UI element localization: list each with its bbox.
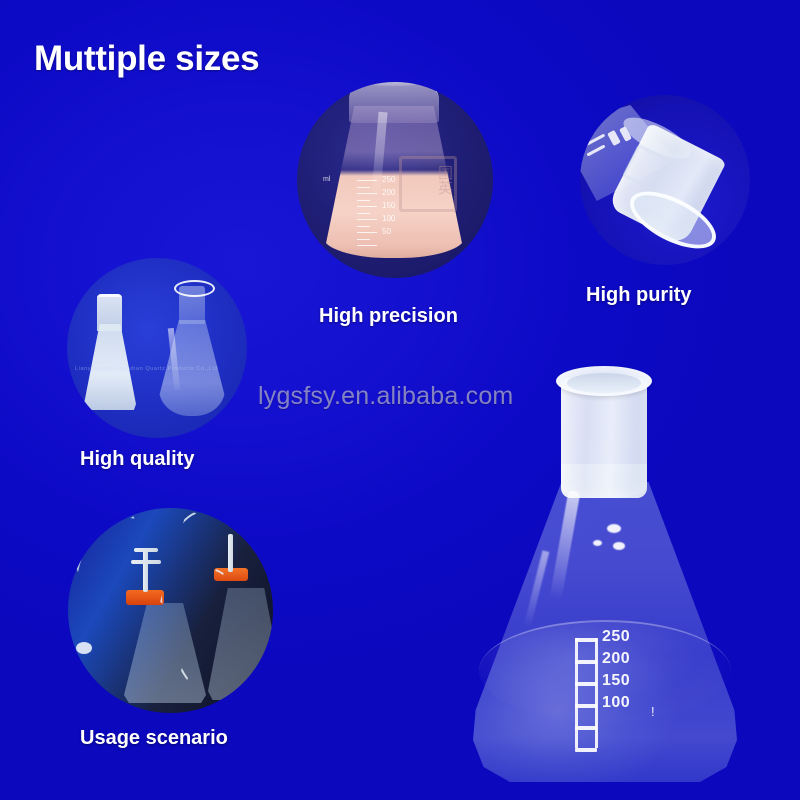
- graduation-line: [357, 187, 370, 188]
- main-flask-graduation-scale: 250200150100: [575, 638, 675, 748]
- graduation-line: [357, 226, 370, 227]
- specular-highlight: [613, 542, 625, 550]
- graduation-line: [575, 638, 597, 642]
- etched-logo-text: 国英: [438, 166, 453, 196]
- graduation-line: [357, 232, 377, 233]
- product-banner: Muttiple sizes 国英 ml 25020015010050 High…: [0, 0, 800, 800]
- faint-watermark-text: Lianyungang Shendian Quartz Products Co.…: [75, 366, 218, 372]
- graduation-line: [357, 193, 377, 194]
- main-flask-ground-joint: [561, 378, 647, 498]
- graduation-label: 50: [382, 227, 391, 236]
- graduation-line: [575, 704, 597, 708]
- caption-usage-scenario: Usage scenario: [80, 727, 228, 750]
- photo-high-precision[interactable]: 国英 ml 25020015010050: [297, 82, 493, 278]
- flask-neck: [349, 82, 439, 123]
- usage-flask-right: [208, 588, 273, 700]
- specular-highlight: [593, 540, 602, 546]
- graduation-label: 250: [382, 175, 395, 184]
- graduation-rail: [575, 638, 578, 748]
- orange-cap-left: [126, 590, 164, 605]
- graduation-line: [357, 219, 377, 220]
- graduation-label: 100: [602, 694, 630, 712]
- caption-high-quality: High quality: [80, 448, 194, 471]
- graduation-line: [575, 660, 597, 664]
- graduation-line: [357, 245, 377, 246]
- caption-high-precision: High precision: [319, 305, 458, 328]
- page-title: Muttiple sizes: [34, 39, 259, 79]
- graduation-line: [575, 682, 597, 686]
- photo-high-quality[interactable]: Lianyungang Shendian Quartz Products Co.…: [67, 258, 247, 438]
- graduation-line: [357, 213, 370, 214]
- graduation-line: [575, 726, 597, 730]
- graduation-rail: [595, 638, 598, 748]
- graduation-label: 250: [602, 628, 630, 646]
- main-flask-joint-bore: [567, 373, 641, 393]
- graduation-label: 200: [382, 188, 395, 197]
- graduation-label: 200: [602, 650, 630, 668]
- stem-crossbar: [134, 548, 158, 552]
- graduation-label: 150: [382, 201, 395, 210]
- specular-highlight: [607, 524, 621, 533]
- graduation-label: 100: [382, 214, 395, 223]
- caption-high-purity: High purity: [586, 284, 692, 307]
- etched-tick-glyph: !: [651, 704, 655, 719]
- stem-crossbar: [131, 560, 161, 564]
- photo-usage-scenario[interactable]: [68, 508, 273, 713]
- graduation-line: [357, 206, 377, 207]
- flask-unit-label: ml: [323, 176, 330, 183]
- tube-end-fitting: [76, 642, 92, 654]
- flask-graduation-scale: 25020015010050: [357, 180, 431, 242]
- graduation-line: [357, 180, 377, 181]
- main-product-flask[interactable]: 250200150100 !: [455, 372, 755, 790]
- graduation-line: [357, 239, 370, 240]
- photo-high-purity[interactable]: [580, 95, 750, 265]
- inverted-flask-illustration: 国英 ml 25020015010050: [323, 82, 465, 258]
- graduation-line: [575, 748, 597, 752]
- ground-joint-illustration: [580, 95, 750, 265]
- graduation-line: [357, 200, 370, 201]
- sampling-stem-right: [228, 534, 233, 572]
- graduation-label: 150: [602, 672, 630, 690]
- clear-flask-rim: [174, 280, 215, 297]
- sampling-stem-left: [143, 548, 148, 592]
